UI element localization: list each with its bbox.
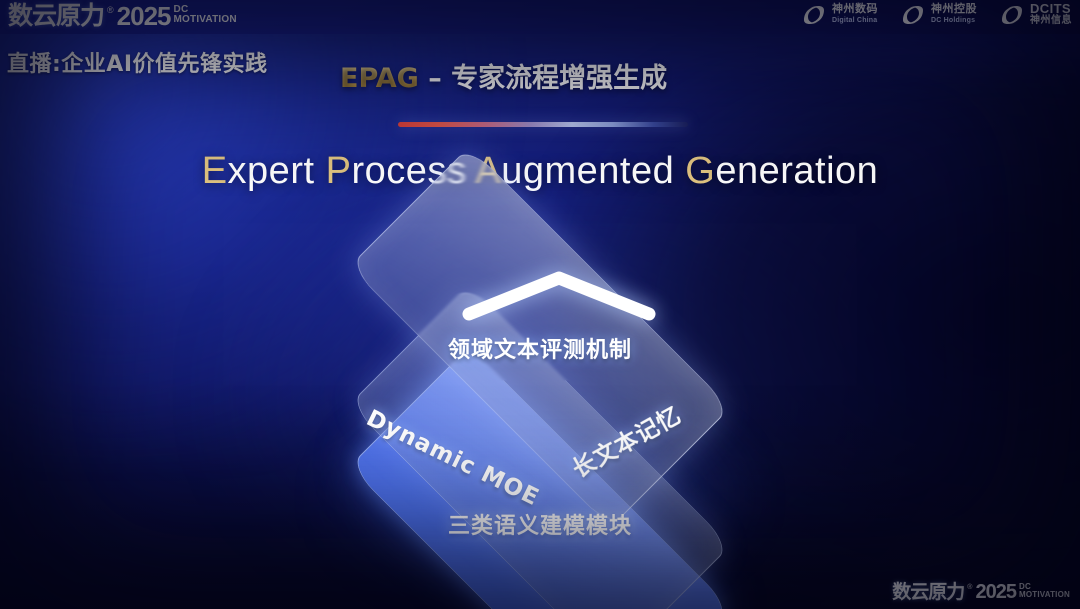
brand-logo-year: 2025 xyxy=(117,2,171,30)
subtitle-word-4-rest: eneration xyxy=(715,150,878,192)
corporate-logo-digital-china: 神州数码 Digital China xyxy=(801,3,878,27)
brand-watermark: 数云原力 ® 2025 DC MOTIVATION xyxy=(892,581,1070,603)
watermark-logo-cn: 数云原力 xyxy=(892,581,964,603)
subtitle-word-4-cap: G xyxy=(685,150,715,192)
corporate-logo-text: DCITS 神州信息 xyxy=(1030,4,1072,26)
live-session-title: 直播:企业AI价值先锋实践 xyxy=(7,46,268,78)
swirl-logo-icon xyxy=(801,3,827,27)
corporate-logo-en: Digital China xyxy=(832,16,878,26)
brand-logo-cn: 数云原力 xyxy=(8,2,104,30)
page-subtitle: Expert Process Augmented Generation xyxy=(0,150,1080,193)
subtitle-word-2-cap: P xyxy=(326,150,352,192)
corporate-logo-dcits: DCITS 神州信息 xyxy=(999,3,1072,27)
slide-canvas: 数云原力 ® 2025 DC MOTIVATION 直播:企业AI价值先锋实践 … xyxy=(0,0,1080,609)
swirl-logo-icon xyxy=(900,3,926,27)
chevron-up-icon xyxy=(459,268,659,324)
subtitle-word-3-rest: ugmented xyxy=(501,150,674,192)
page-title: EPAG – 专家流程增强生成 xyxy=(340,56,667,95)
layer-label-top: 领域文本评测机制 xyxy=(0,332,1080,364)
corporate-logo-cn: 神州信息 xyxy=(1030,16,1072,26)
page-title-acronym: EPAG xyxy=(340,63,419,94)
subtitle-word-2-rest: rocess xyxy=(351,150,466,192)
title-divider xyxy=(398,122,688,127)
corporate-logo-en: DC Holdings xyxy=(931,16,977,26)
watermark-logo-mark: ® xyxy=(967,581,972,592)
brand-logo-dc: DC MOTIVATION xyxy=(174,2,237,25)
brand-logo: 数云原力 ® 2025 DC MOTIVATION xyxy=(8,2,237,30)
layer-label-bottom: 三类语义建模模块 xyxy=(0,508,1080,540)
watermark-logo-year: 2025 xyxy=(975,581,1016,603)
corporate-logo-cn: 神州控股 xyxy=(931,4,977,14)
subtitle-word-3-cap: A xyxy=(475,150,501,192)
corporate-logo-cn: 神州数码 xyxy=(832,4,878,14)
corporate-logo-group: 神州数码 Digital China 神州控股 DC Holdings xyxy=(801,3,1072,27)
watermark-logo-dc-line2: MOTIVATION xyxy=(1019,591,1070,599)
page-title-chinese: 专家流程增强生成 xyxy=(451,63,667,94)
swirl-logo-icon xyxy=(999,3,1025,27)
corporate-logo-en: DCITS xyxy=(1030,4,1072,14)
brand-logo-mark: ® xyxy=(107,2,114,16)
subtitle-word-1-rest: xpert xyxy=(228,150,315,192)
watermark-logo-dc: DC MOTIVATION xyxy=(1019,581,1070,599)
corporate-logo-text: 神州控股 DC Holdings xyxy=(931,4,977,26)
brand-logo-dc-line2: MOTIVATION xyxy=(174,15,237,25)
subtitle-word-1-cap: E xyxy=(202,150,228,192)
page-title-separator: – xyxy=(419,63,451,94)
corporate-logo-text: 神州数码 Digital China xyxy=(832,4,878,26)
corporate-logo-dc-holdings: 神州控股 DC Holdings xyxy=(900,3,977,27)
